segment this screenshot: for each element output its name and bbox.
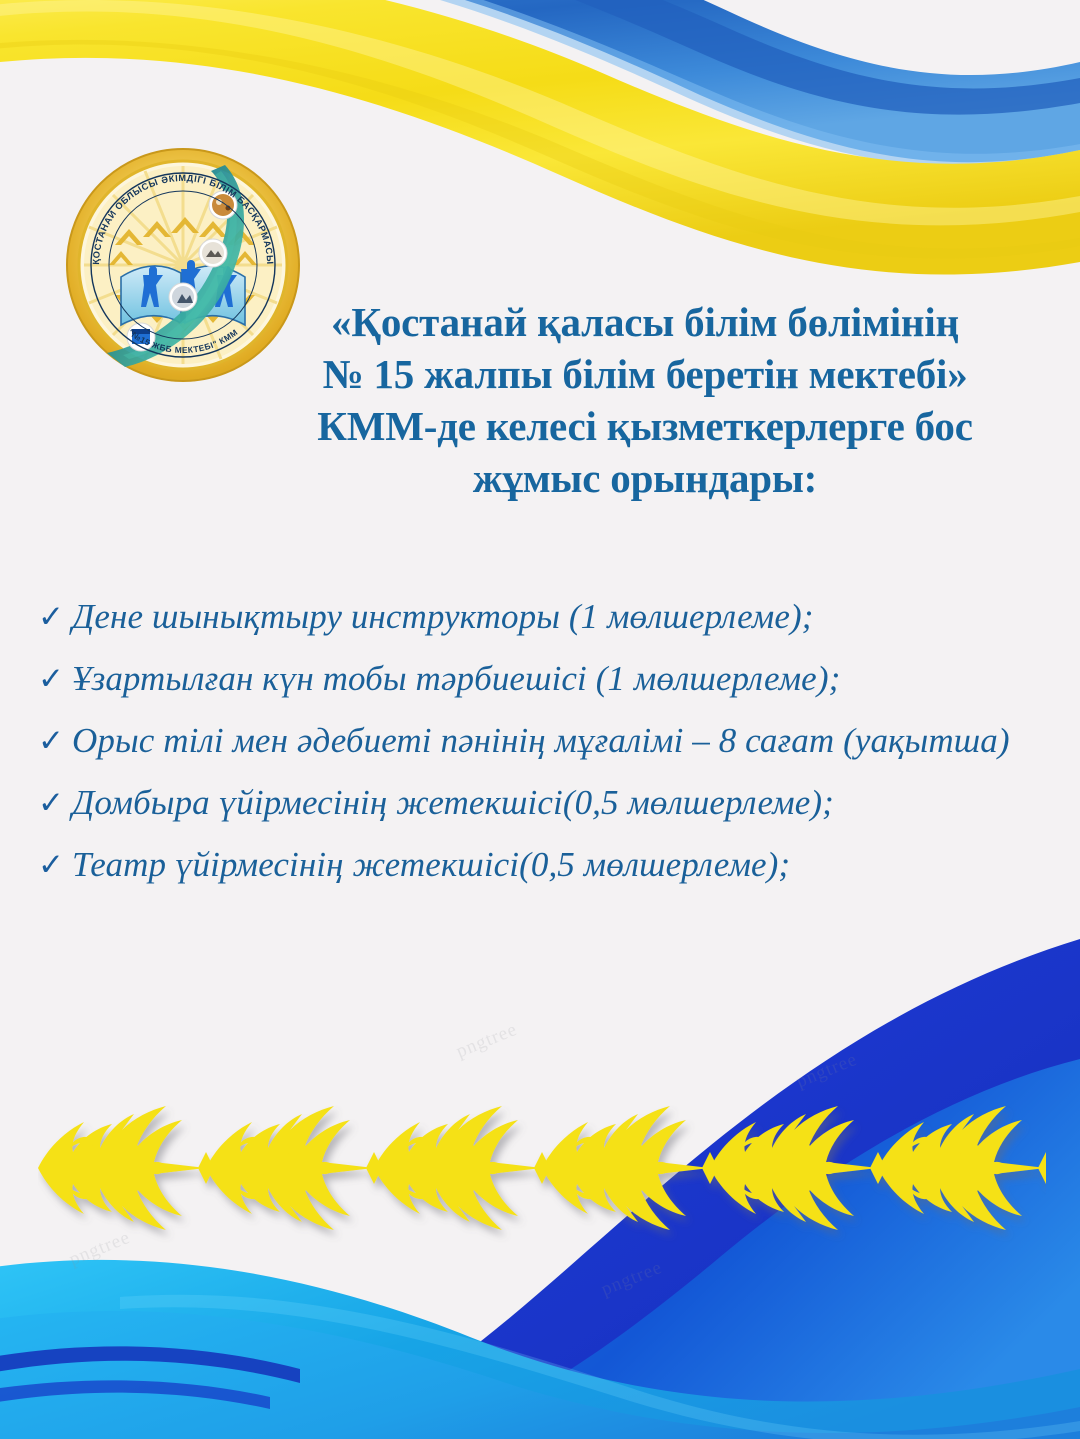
vacancy-label: Ұзартылған күн тобы тәрбиешісі (1 мөлшер… bbox=[72, 654, 1052, 704]
list-item: ✓ Ұзартылған күн тобы тәрбиешісі (1 мөлш… bbox=[32, 654, 1052, 704]
check-icon: ✓ bbox=[32, 654, 72, 704]
kazakh-ornament-band bbox=[38, 1092, 1046, 1244]
list-item: ✓ Дене шынықтыру инструкторы (1 мөлшерле… bbox=[32, 592, 1052, 642]
check-icon: ✓ bbox=[32, 840, 72, 890]
vacancy-label: Орыс тілі мен әдебиеті пәнінің мұғалімі … bbox=[72, 716, 1052, 766]
vacancy-label: Домбыра үйірмесінің жетекшісі(0,5 мөлшер… bbox=[72, 778, 1052, 828]
list-item: ✓ Домбыра үйірмесінің жетекшісі(0,5 мөлш… bbox=[32, 778, 1052, 828]
title-line-2: № 15 жалпы білім беретін мектебі» bbox=[230, 348, 1060, 400]
poster-canvas: ҚОСТАНАЙ ОБЛЫСЫ ӘКІМДІГІ БІЛІМ БАСҚАРМАС… bbox=[0, 0, 1080, 1439]
check-icon: ✓ bbox=[32, 592, 72, 642]
list-item: ✓ Орыс тілі мен әдебиеті пәнінің мұғалім… bbox=[32, 716, 1052, 766]
check-icon: ✓ bbox=[32, 778, 72, 828]
list-item: ✓ Театр үйірмесінің жетекшісі(0,5 мөлшер… bbox=[32, 840, 1052, 890]
watermark: pngtree bbox=[598, 1257, 666, 1301]
vacancy-label: Театр үйірмесінің жетекшісі(0,5 мөлшерле… bbox=[72, 840, 1052, 890]
title-line-3: КММ-де келесі қызметкерлерге бос bbox=[230, 400, 1060, 452]
check-icon: ✓ bbox=[32, 716, 72, 766]
watermark: pngtree bbox=[453, 1019, 521, 1063]
vacancy-label: Дене шынықтыру инструкторы (1 мөлшерлеме… bbox=[72, 592, 1052, 642]
title-line-1: «Қостанай қаласы білім бөлімінің bbox=[230, 296, 1060, 348]
watermark: pngtree bbox=[793, 1049, 861, 1093]
vacancy-list: ✓ Дене шынықтыру инструкторы (1 мөлшерле… bbox=[32, 592, 1052, 902]
title-line-4: жұмыс орындары: bbox=[230, 452, 1060, 504]
page-title: «Қостанай қаласы білім бөлімінің № 15 жа… bbox=[230, 296, 1060, 504]
